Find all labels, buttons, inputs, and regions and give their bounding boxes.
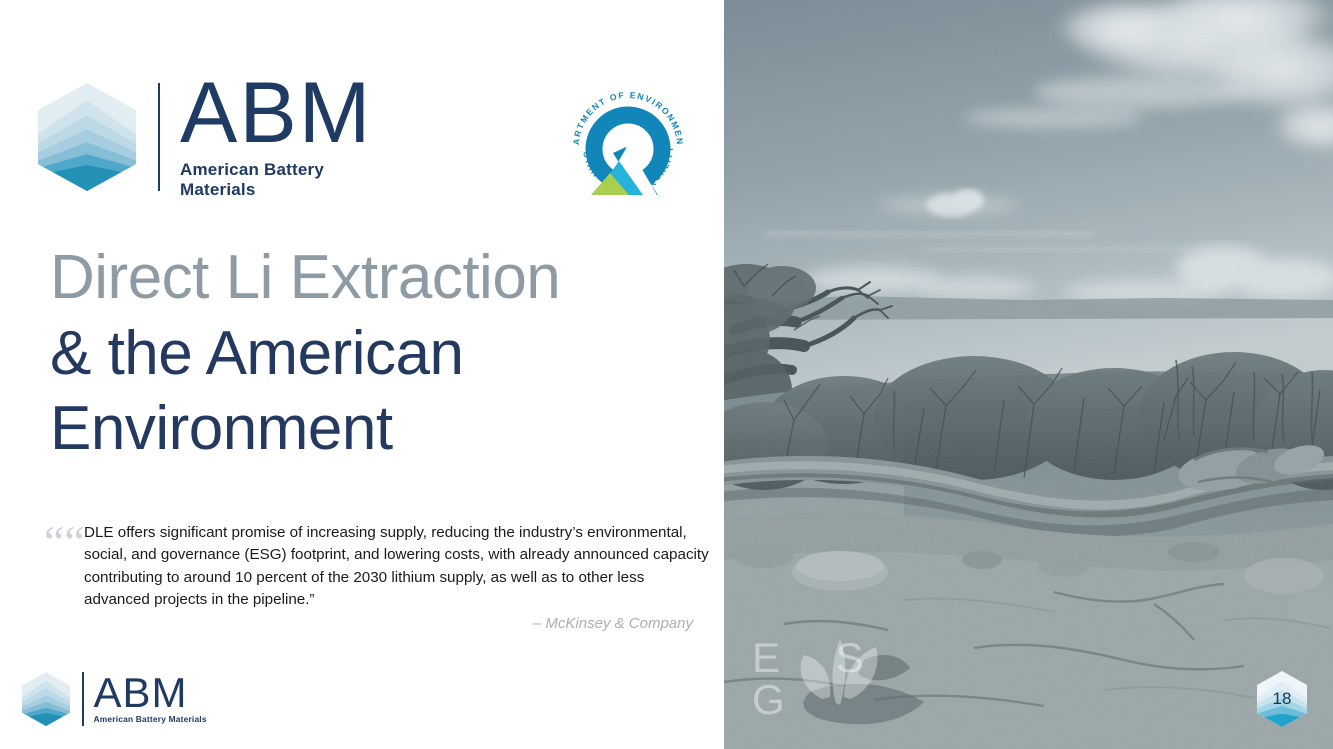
quote-text: DLE offers significant promise of increa… [84, 522, 709, 611]
abm-letters-footer: ABM [94, 674, 207, 713]
slide-root: ABM American Battery Materials DEPARTMEN… [0, 0, 1333, 749]
title-line-2: & the American [50, 316, 710, 392]
page-title: Direct Li Extraction & the American Envi… [50, 240, 710, 467]
left-content-panel: ABM American Battery Materials DEPARTMEN… [0, 0, 724, 749]
abm-logo-header: ABM American Battery Materials [38, 72, 398, 202]
abm-tagline-footer: American Battery Materials [94, 714, 207, 724]
abm-letters: ABM [180, 74, 398, 153]
utah-deq-seal-icon: DEPARTMENT OF ENVIRONMENTAL UTAH QUALITY [563, 67, 693, 207]
quote-block: ““ DLE offers significant promise of inc… [44, 522, 709, 632]
logo-divider [158, 83, 160, 191]
landscape-photo: E S G 18 [724, 0, 1333, 749]
title-line-1: Direct Li Extraction [50, 240, 710, 316]
abm-wordmark: ABM American Battery Materials [180, 74, 398, 199]
quote-attribution: – McKinsey & Company [44, 615, 709, 632]
logo-divider-footer [82, 672, 84, 726]
quotation-mark-icon: ““ [44, 524, 84, 560]
abm-logo-footer: ABM American Battery Materials [22, 672, 207, 726]
abm-tagline: American Battery Materials [180, 160, 398, 200]
abm-wordmark-footer: ABM American Battery Materials [94, 674, 207, 725]
abm-hexagon-icon [38, 83, 136, 191]
abm-hexagon-icon-footer [22, 672, 70, 726]
title-line-3: Environment [50, 391, 710, 467]
